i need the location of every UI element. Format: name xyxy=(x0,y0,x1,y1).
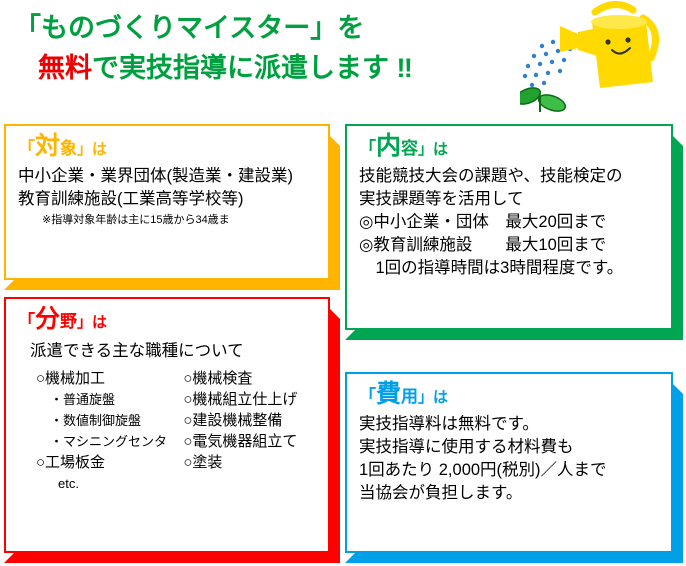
fields-column-left: ○機械加工 ・普通旋盤 ・数値制御旋盤 ・マシニングセンタ ○工場板金 etc. xyxy=(36,368,183,494)
panel-heading-content: 「内容」は xyxy=(359,134,669,159)
watering-can-illustration xyxy=(520,0,686,115)
panel-shadow-bottom xyxy=(4,280,340,290)
title-free-emphasis: 無料 xyxy=(38,53,92,83)
list-item: ○建設機械整備 xyxy=(183,410,326,431)
panel-heading-fields: 「分野」は xyxy=(18,307,326,332)
panel-content-line-1: 技能競技大会の課題や、技能検定の xyxy=(359,165,669,188)
list-item: ・普通旋盤 xyxy=(36,389,183,410)
panel-cost-line-2: 実技指導に使用する材料費も xyxy=(359,436,669,459)
panel-shadow-bottom xyxy=(345,330,683,340)
list-item: ○機械加工 xyxy=(36,368,183,389)
panel-fields-lead: 派遣できる主な職種について xyxy=(18,338,326,364)
panel-fields: 「分野」は 派遣できる主な職種について ○機械加工 ・普通旋盤 ・数値制御旋盤 … xyxy=(4,297,340,563)
heading-small-char: 用 xyxy=(401,387,418,406)
list-item: ○工場板金 xyxy=(36,452,183,473)
page-title: 「ものづくりマイスター」を 無料で実技指導に派遣します ‼ xyxy=(0,8,500,88)
panel-heading-cost: 「費用」は xyxy=(359,382,669,407)
list-item: ○機械組立仕上げ xyxy=(183,389,326,410)
heading-tail: 」は xyxy=(77,314,107,331)
list-item: ○機械検査 xyxy=(183,368,326,389)
heading-open-bracket: 「 xyxy=(18,312,35,331)
panel-content-line-5: 1回の指導時間は3時間程度です。 xyxy=(359,257,669,280)
panel-content-line-3: ◎中小企業・団体 最大20回まで xyxy=(359,211,669,234)
eye-right-icon xyxy=(625,37,630,42)
panel-cost-line-3: 1回あたり 2,000円(税別)／人まで xyxy=(359,459,669,482)
panel-content: 「内容」は 技能競技大会の課題や、技能検定の 実技課題等を活用して ◎中小企業・… xyxy=(345,124,683,340)
list-item: ○塗装 xyxy=(183,452,326,473)
panel-heading-target: 「対象」は xyxy=(18,134,326,159)
heading-tail: 」は xyxy=(418,141,448,158)
panel-cost-line-4: 当協会が負担します。 xyxy=(359,482,669,505)
panel-cost-line-1: 実技指導料は無料です。 xyxy=(359,413,669,436)
panel-target-note: ※指導対象年齢は主に15歳から34歳ま xyxy=(18,211,326,229)
heading-big-char: 分 xyxy=(35,305,60,333)
heading-open-bracket: 「 xyxy=(359,139,376,158)
heading-big-char: 内 xyxy=(376,132,401,160)
panel-content-line-2: 実技課題等を活用して xyxy=(359,188,669,211)
heading-tail: 」は xyxy=(77,141,107,158)
list-item: ・数値制御旋盤 xyxy=(36,410,183,431)
heading-small-char: 象 xyxy=(60,139,77,158)
panel-target: 「対象」は 中小企業・業界団体(製造業・建設業) 教育訓練施設(工業高等学校等)… xyxy=(4,124,340,290)
title-line-1: 「ものづくりマイスター」を xyxy=(0,8,500,48)
watering-can-icon xyxy=(560,4,656,88)
title-line-2: 無料で実技指導に派遣します ‼ xyxy=(0,48,500,88)
panel-target-line-2: 教育訓練施設(工業高等学校等) xyxy=(18,188,326,211)
heading-small-char: 容 xyxy=(401,139,418,158)
heading-open-bracket: 「 xyxy=(359,387,376,406)
heading-tail: 」は xyxy=(418,389,448,406)
heading-big-char: 対 xyxy=(35,132,60,160)
heading-big-char: 費 xyxy=(376,380,401,408)
eye-left-icon xyxy=(605,39,610,44)
panel-cost: 「費用」は 実技指導料は無料です。 実技指導に使用する材料費も 1回あたり 2,… xyxy=(345,372,683,563)
sprout-icon xyxy=(520,85,568,115)
list-item: ○電気機器組立て xyxy=(183,431,326,452)
panel-shadow-bottom xyxy=(345,553,683,563)
fields-column-right: ○機械検査 ○機械組立仕上げ ○建設機械整備 ○電気機器組立て ○塗装 xyxy=(183,368,326,494)
panel-target-line-1: 中小企業・業界団体(製造業・建設業) xyxy=(18,165,326,188)
list-item-etc: etc. xyxy=(36,473,183,494)
heading-open-bracket: 「 xyxy=(18,139,35,158)
list-item: ・マシニングセンタ xyxy=(36,431,183,452)
panel-content-line-4: ◎教育訓練施設 最大10回まで xyxy=(359,234,669,257)
title-line-2-rest: で実技指導に派遣します ‼ xyxy=(92,53,413,83)
heading-small-char: 野 xyxy=(60,312,77,331)
panel-shadow-bottom xyxy=(4,553,340,563)
fields-columns: ○機械加工 ・普通旋盤 ・数値制御旋盤 ・マシニングセンタ ○工場板金 etc.… xyxy=(18,368,326,494)
